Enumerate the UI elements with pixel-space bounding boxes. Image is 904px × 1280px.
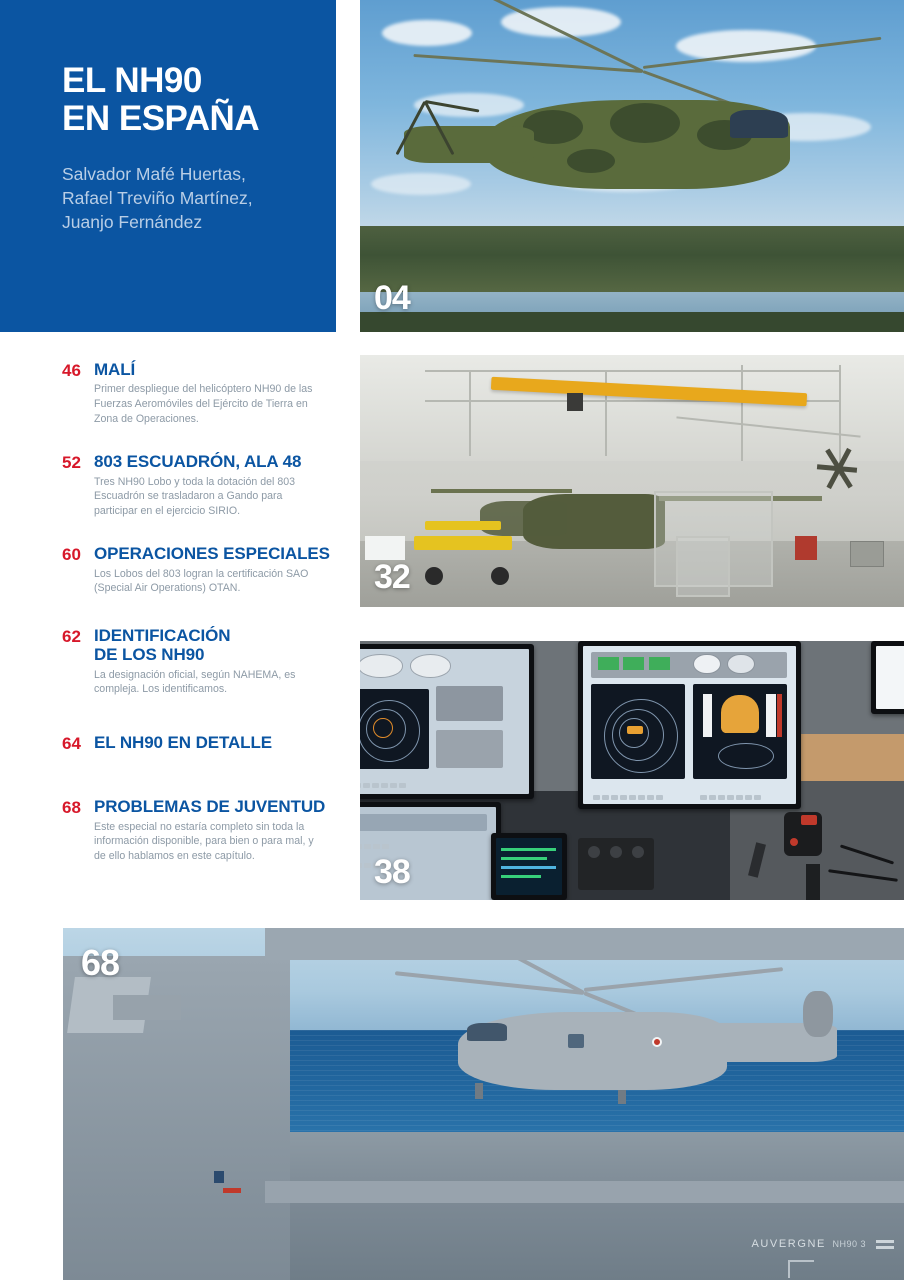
- console-button-row: [360, 844, 389, 849]
- photo-simulator-cockpit: 38: [360, 641, 904, 900]
- equipment-crate: [850, 541, 884, 567]
- keypad-panel: [436, 730, 503, 768]
- toc-entry[interactable]: 68 PROBLEMAS DE JUVENTUD Este especial n…: [62, 797, 352, 863]
- toc-page-number: 46: [62, 360, 94, 426]
- ship-name: AUVERGNE: [751, 1238, 826, 1250]
- cloud: [382, 20, 472, 46]
- camouflage-patch: [610, 103, 680, 143]
- roundel-insignia: [652, 1037, 662, 1047]
- joystick-red-button: [790, 838, 798, 846]
- monitor-left: [360, 644, 534, 799]
- toc-entry[interactable]: 62 IDENTIFICACIÓN DE LOS NH90 La designa…: [62, 626, 352, 697]
- monitor-right-screen: [876, 646, 904, 709]
- cart-wheel: [425, 567, 443, 585]
- monitor-left-screen: [360, 649, 529, 794]
- photo-2-scene: [360, 355, 904, 607]
- toc-page-number: 64: [62, 733, 94, 755]
- toc-page-number: 62: [62, 626, 94, 697]
- joystick-base: [806, 864, 820, 900]
- engine-indicator: [721, 695, 758, 733]
- upper-instrument-strip: [591, 652, 787, 677]
- text-line: [501, 875, 541, 878]
- monitor-center: [578, 641, 801, 809]
- hangar-door-opening: [365, 536, 405, 560]
- vertical-gauge: [703, 694, 712, 738]
- analog-gauge: [360, 654, 403, 677]
- radar-ring: [373, 718, 393, 738]
- photo-4-scene: AUVERGNE NH90 3: [63, 928, 904, 1280]
- photo-hangar-maintenance: 32: [360, 355, 904, 607]
- forest: [360, 226, 904, 299]
- toc-heading: PROBLEMAS DE JUVENTUD: [94, 797, 352, 816]
- table-of-contents: 46 MALÍ Primer despliegue del helicópter…: [62, 360, 352, 868]
- navigation-display: [591, 684, 685, 779]
- maintenance-stairs: [676, 536, 730, 596]
- photo-page-number: 04: [374, 279, 410, 318]
- display-button-row: [593, 795, 663, 800]
- toc-description: Los Lobos del 803 logran la certificació…: [94, 567, 352, 596]
- photo-page-number: 32: [374, 558, 410, 597]
- system-ring: [718, 743, 774, 769]
- crane-hoist: [567, 393, 583, 411]
- multifunction-display: [360, 689, 429, 769]
- roof-truss: [741, 365, 743, 461]
- toc-entry[interactable]: 46 MALÍ Primer despliegue del helicópter…: [62, 360, 352, 426]
- toc-description: La designación oficial, según NAHEMA, es…: [94, 668, 352, 697]
- console-strip: [360, 814, 487, 831]
- status-indicator: [649, 657, 670, 670]
- hull-stripes: [876, 1240, 894, 1252]
- toc-entry[interactable]: 60 OPERACIONES ESPECIALES Los Lobos del …: [62, 544, 352, 596]
- text-line: [501, 848, 557, 851]
- photo-page-number: 68: [81, 942, 119, 984]
- cockpit-window: [467, 1023, 507, 1041]
- tail-rotor-disc: [803, 991, 833, 1037]
- photo-3-scene: [360, 641, 904, 900]
- ship-code: NH90 3: [832, 1239, 866, 1249]
- toc-page-number: 60: [62, 544, 94, 596]
- page-title: EL NH90 EN ESPAÑA: [62, 62, 310, 138]
- equipment-cart: [414, 536, 512, 550]
- cabin-window: [568, 1034, 584, 1048]
- toc-heading: OPERACIONES ESPECIALES: [94, 544, 352, 563]
- vertical-gauge: [766, 694, 775, 738]
- analog-gauge: [410, 654, 451, 677]
- crew-member: [214, 1171, 224, 1183]
- hull-fitting: [788, 1260, 814, 1278]
- flight-deck: [265, 928, 904, 960]
- cloud: [676, 30, 816, 62]
- roof-truss: [469, 370, 471, 456]
- cloud: [371, 173, 471, 195]
- landing-gear: [618, 1090, 626, 1104]
- cockpit-window: [730, 110, 788, 138]
- helicopter-in-hangar: [480, 501, 567, 536]
- equipment-cart: [425, 521, 501, 530]
- toc-page-number: 52: [62, 452, 94, 518]
- rotor-blade: [431, 489, 572, 493]
- tool-chest: [795, 536, 817, 560]
- photo-1-scene: [360, 0, 904, 332]
- monitor-right: [871, 641, 904, 714]
- roof-truss: [425, 370, 838, 372]
- author-list: Salvador Mafé Huertas, Rafael Treviño Ma…: [62, 162, 310, 234]
- photo-nh90-in-flight: 04: [360, 0, 904, 332]
- system-display: [693, 684, 787, 779]
- display-button-row: [700, 795, 761, 800]
- control-knob: [632, 846, 644, 858]
- toc-page-number: 68: [62, 797, 94, 863]
- aircraft-symbol: [627, 726, 643, 734]
- display-panel: [436, 686, 503, 721]
- warning-bar: [777, 694, 783, 738]
- photo-page-number: 38: [374, 853, 410, 892]
- display-button-row: [360, 783, 406, 788]
- text-line: [501, 866, 557, 869]
- toc-entry[interactable]: 64 EL NH90 EN DETALLE: [62, 733, 352, 755]
- status-indicator: [598, 657, 619, 670]
- joystick-red-button: [801, 815, 817, 825]
- deck-rail: [265, 1181, 904, 1202]
- toc-description: Este especial no estaría completo sin to…: [94, 820, 352, 864]
- hero-block: EL NH90 EN ESPAÑA Salvador Mafé Huertas,…: [0, 0, 336, 332]
- avionics-screen: [496, 838, 562, 895]
- deck-marker: [223, 1188, 241, 1193]
- toc-description: Primer despliegue del helicóptero NH90 d…: [94, 382, 352, 426]
- toc-heading: IDENTIFICACIÓN DE LOS NH90: [94, 626, 352, 665]
- deck-equipment: [113, 995, 180, 1020]
- toc-heading: MALÍ: [94, 360, 352, 379]
- treeline: [360, 312, 904, 332]
- toc-description: Tres NH90 Lobo y toda la dotación del 80…: [94, 475, 352, 519]
- toc-heading: 803 ESCUADRÓN, ALA 48: [94, 452, 352, 471]
- monitor-center-screen: [583, 646, 796, 804]
- landing-gear: [475, 1083, 483, 1099]
- tail-boom: [404, 126, 535, 163]
- toc-heading: EL NH90 EN DETALLE: [94, 733, 352, 752]
- control-knob: [610, 846, 622, 858]
- text-line: [501, 857, 547, 860]
- status-indicator: [623, 657, 644, 670]
- cart-wheel: [491, 567, 509, 585]
- toc-entry[interactable]: 52 803 ESCUADRÓN, ALA 48 Tres NH90 Lobo …: [62, 452, 352, 518]
- avionics-unit: [491, 833, 567, 900]
- photo-naval-nh90-frigate: AUVERGNE NH90 3 68: [63, 928, 904, 1280]
